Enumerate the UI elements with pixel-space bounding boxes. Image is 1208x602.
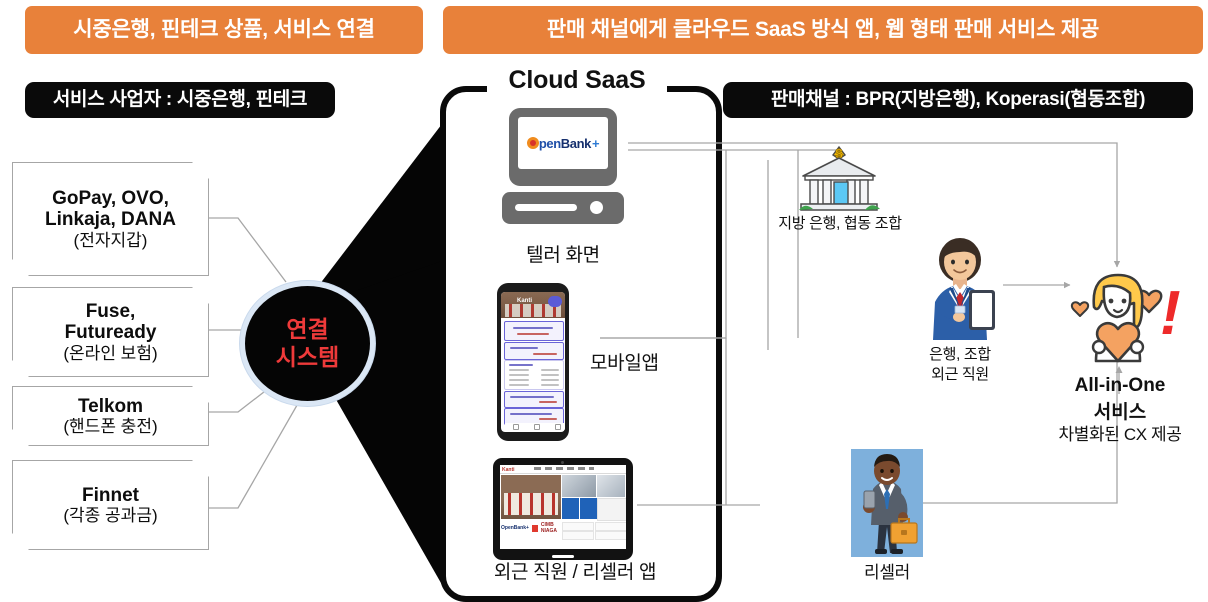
customer-title: All-in-One (1040, 375, 1200, 397)
exclamation-mark-icon: ! (1160, 283, 1181, 345)
channel-connectors (0, 0, 1208, 599)
person-with-heart-icon (1066, 265, 1170, 367)
channel-caption-reseller: 리셀러 (827, 563, 947, 583)
channel-caption-field-staff-line1: 은행, 조합 (900, 346, 1020, 363)
channel-caption-field-staff-line2: 외근 직원 (900, 366, 1020, 383)
channel-caption-bank: 지방 은행, 협동 조합 (755, 215, 925, 232)
bank-building-icon: $ (793, 145, 885, 217)
diagram-canvas: 시중은행, 핀테크 상품, 서비스 연결 판매 채널에게 클라우드 SaaS 방… (0, 0, 1208, 599)
businessman-with-briefcase-icon (851, 449, 923, 557)
customer-note: 차별화된 CX 제공 (1030, 420, 1208, 445)
businessman-with-tablet-icon (919, 228, 1001, 340)
